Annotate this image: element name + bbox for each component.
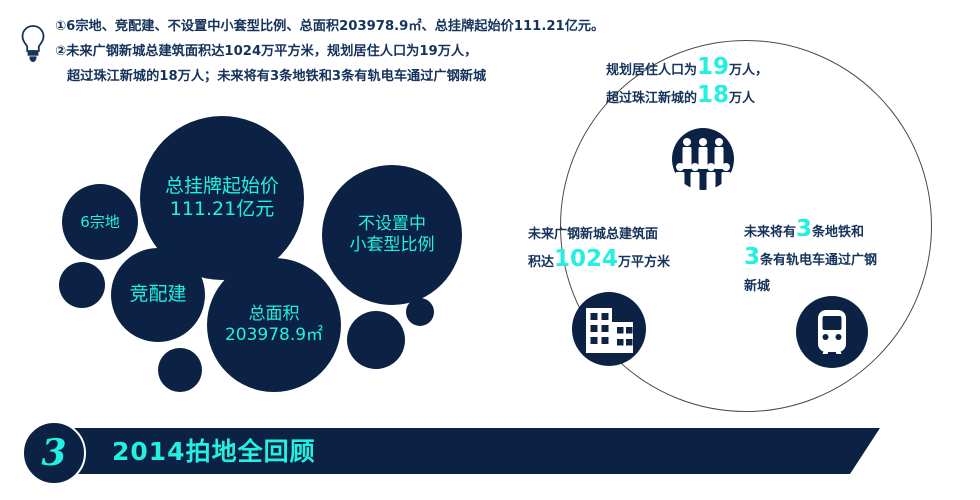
highlight-number: 19 [697, 54, 729, 80]
population-line-2: 超过珠江新城的18万人 [606, 84, 768, 112]
section-number-badge: 3 [22, 421, 86, 485]
highlight-number: 3 [796, 216, 812, 242]
text-segment: 万人 [729, 91, 755, 106]
text-segment: 积达 [528, 255, 554, 270]
text-segment: 规划居住人口为 [606, 63, 697, 78]
text-segment: 条地铁和 [812, 225, 864, 240]
bubble-blank-right-tiny[interactable] [406, 298, 434, 326]
bubble-zongmianji[interactable]: 总面积203978.9㎡ [207, 258, 341, 392]
bubble-blank-right-small[interactable] [347, 311, 405, 369]
transit-text-block: 未来将有3条地铁和 3条有轨电车通过广钢 新城 [744, 218, 877, 300]
bubble-label-line: 不设置中 [350, 214, 435, 235]
text-segment: 条有轨电车通过广钢 [760, 253, 877, 268]
floor-area-line-1: 未来广钢新城总建筑面 [528, 222, 670, 248]
bubble-label-line: 总挂牌起始价 [165, 175, 279, 198]
lightbulb-icon [20, 24, 46, 64]
transit-line-1: 未来将有3条地铁和 [744, 218, 877, 246]
section-title: 2014拍地全回顾 [112, 432, 316, 468]
text-segment: 超过珠江新城的 [606, 91, 697, 106]
note-line-1: ①6宗地、竞配建、不设置中小套型比例、总面积203978.9㎡、总挂牌起始价11… [55, 14, 575, 39]
bubble-label-line: 竞配建 [129, 283, 186, 306]
highlight-number: 18 [697, 82, 729, 108]
section-number: 3 [41, 435, 66, 471]
bubble-label-line: 总面积 [225, 304, 323, 325]
train-icon [796, 296, 868, 368]
header-note: ①6宗地、竞配建、不设置中小套型比例、总面积203978.9㎡、总挂牌起始价11… [55, 14, 575, 89]
bubble-label-line: 小套型比例 [350, 235, 435, 256]
bubble-label: 竞配建 [125, 283, 190, 306]
bubble-blank-bottom-small[interactable] [158, 348, 202, 392]
bubble-label-line: 203978.9㎡ [225, 325, 323, 346]
bubble-label: 6宗地 [76, 213, 124, 231]
population-line-1: 规划居住人口为19万人， [606, 56, 768, 84]
bubble-jingpeijian[interactable]: 竞配建 [111, 248, 205, 342]
highlight-number: 3 [744, 244, 760, 270]
bubble-label: 总面积203978.9㎡ [221, 304, 327, 345]
floor-area-line-2: 积达1024万平方米 [528, 248, 670, 276]
note-line-3: 超过珠江新城的18万人；未来将有3条地铁和3条有轨电车通过广钢新城 [55, 64, 575, 89]
floor-area-text-block: 未来广钢新城总建筑面 积达1024万平方米 [528, 222, 670, 276]
bubble-label: 总挂牌起始价111.21亿元 [161, 175, 283, 221]
bubble-label-line: 111.21亿元 [165, 198, 279, 221]
bubble-liuzongdi[interactable]: 6宗地 [62, 184, 138, 260]
building-icon [572, 292, 646, 366]
text-segment: 万人， [729, 63, 768, 78]
highlight-number: 1024 [554, 246, 618, 272]
bubble-blank-left-small[interactable] [59, 262, 105, 308]
transit-line-2: 3条有轨电车通过广钢 [744, 246, 877, 274]
note-line-2: ②未来广钢新城总建筑面积达1024万平方米，规划居住人口为19万人， [55, 39, 575, 64]
bubble-label: 不设置中小套型比例 [346, 214, 439, 255]
text-segment: 未来广钢新城总建筑面 [528, 227, 658, 242]
text-segment: 未来将有 [744, 225, 796, 240]
population-text-block: 规划居住人口为19万人， 超过珠江新城的18万人 [606, 56, 768, 112]
bubble-label-line: 6宗地 [80, 213, 120, 231]
people-group-icon [672, 126, 734, 202]
infographic-slide: ①6宗地、竞配建、不设置中小套型比例、总面积203978.9㎡、总挂牌起始价11… [0, 0, 980, 500]
bubble-buszzhong[interactable]: 不设置中小套型比例 [322, 165, 462, 305]
text-segment: 万平方米 [618, 255, 670, 270]
text-segment: 新城 [744, 279, 770, 294]
